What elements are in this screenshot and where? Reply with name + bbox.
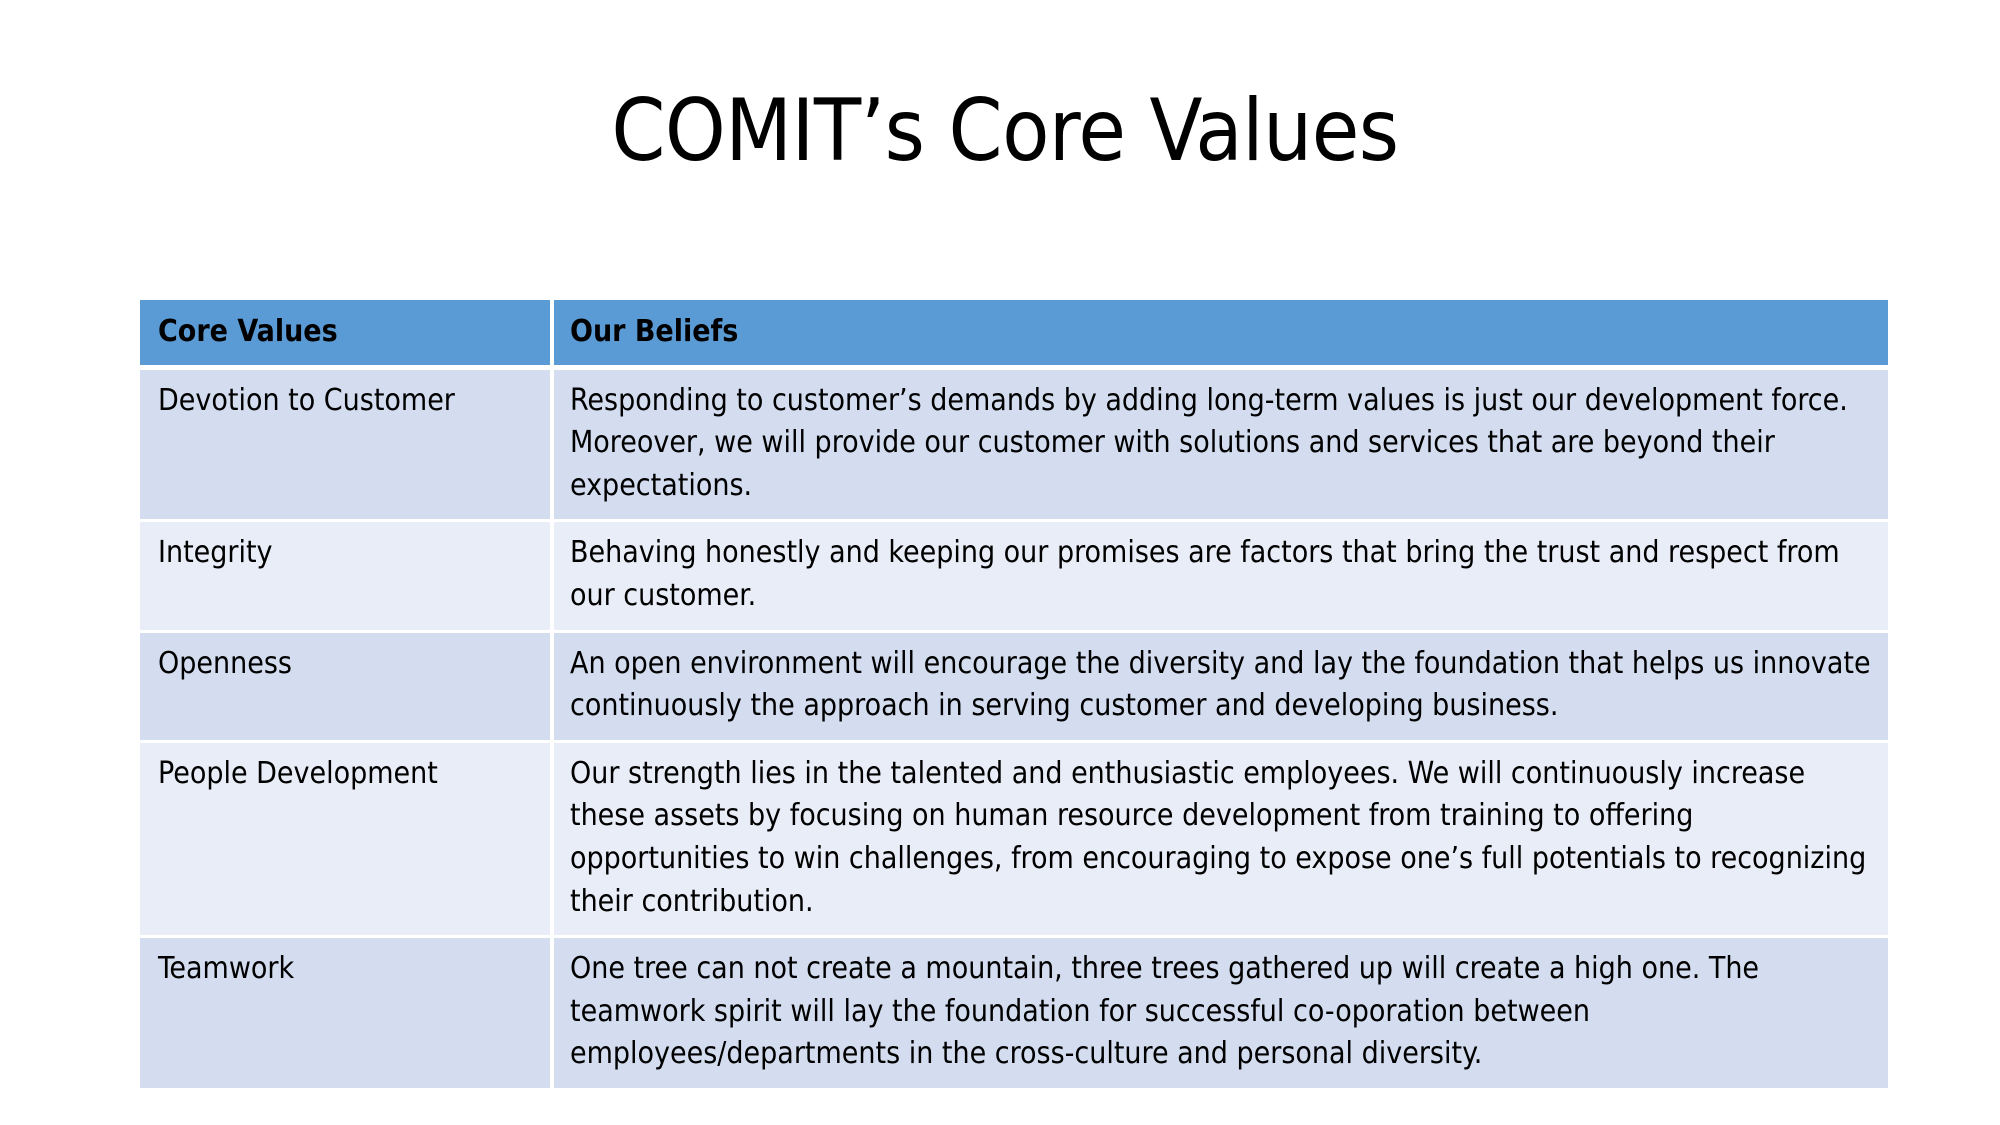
- core-value-belief: Our strength lies in the talented and en…: [554, 743, 1888, 935]
- table-header-row: Core Values Our Beliefs: [140, 300, 1888, 365]
- table-row: Openness An open environment will encour…: [140, 633, 1888, 740]
- table-row: Teamwork One tree can not create a mount…: [140, 938, 1888, 1088]
- core-value-belief: Responding to customer’s demands by addi…: [554, 370, 1888, 520]
- slide-canvas: COMIT’s Core Values Core Values Our Beli…: [0, 0, 2000, 1125]
- core-value-belief: One tree can not create a mountain, thre…: [554, 938, 1888, 1088]
- core-value-name: People Development: [140, 743, 550, 935]
- core-value-name: Devotion to Customer: [140, 370, 550, 520]
- core-value-belief: An open environment will encourage the d…: [554, 633, 1888, 740]
- core-values-table: Core Values Our Beliefs Devotion to Cust…: [140, 300, 1888, 1091]
- table-row: Devotion to Customer Responding to custo…: [140, 370, 1888, 520]
- table-row: Integrity Behaving honestly and keeping …: [140, 522, 1888, 629]
- column-header-core-values: Core Values: [140, 300, 550, 365]
- table-row: People Development Our strength lies in …: [140, 743, 1888, 935]
- page-title: COMIT’s Core Values: [160, 86, 1850, 176]
- core-value-belief: Behaving honestly and keeping our promis…: [554, 522, 1888, 629]
- core-value-name: Openness: [140, 633, 550, 740]
- core-value-name: Integrity: [140, 522, 550, 629]
- core-value-name: Teamwork: [140, 938, 550, 1088]
- column-header-our-beliefs: Our Beliefs: [554, 300, 1888, 365]
